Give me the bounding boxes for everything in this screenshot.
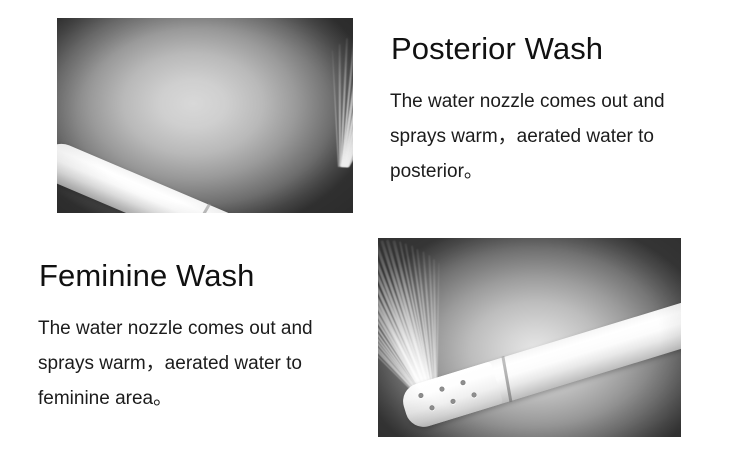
description-line: The water nozzle comes out and [38,311,348,346]
nozzle-outlet-hole [460,380,466,386]
feminine-wash-description: The water nozzle comes out and sprays wa… [38,311,348,416]
description-line: sprays warm，aerated water to [390,119,690,154]
nozzle-outlet-hole [418,392,424,398]
nozzle-outlet-hole [439,386,445,392]
nozzle-outlet-hole [429,405,435,411]
nozzle-outlet-hole [450,398,456,404]
posterior-wash-description: The water nozzle comes out and sprays wa… [390,84,690,189]
feminine-wash-nozzle-photo [378,238,681,437]
nozzle-outlet-hole [471,392,477,398]
description-line: posterior。 [390,154,690,189]
water-spray-jets [343,166,344,167]
description-line: sprays warm，aerated water to [38,346,348,381]
posterior-wash-nozzle-photo [57,18,353,213]
posterior-wash-title: Posterior Wash [391,31,603,67]
description-line: The water nozzle comes out and [390,84,690,119]
description-line: feminine area。 [38,381,348,416]
feminine-wash-title: Feminine Wash [39,258,255,294]
